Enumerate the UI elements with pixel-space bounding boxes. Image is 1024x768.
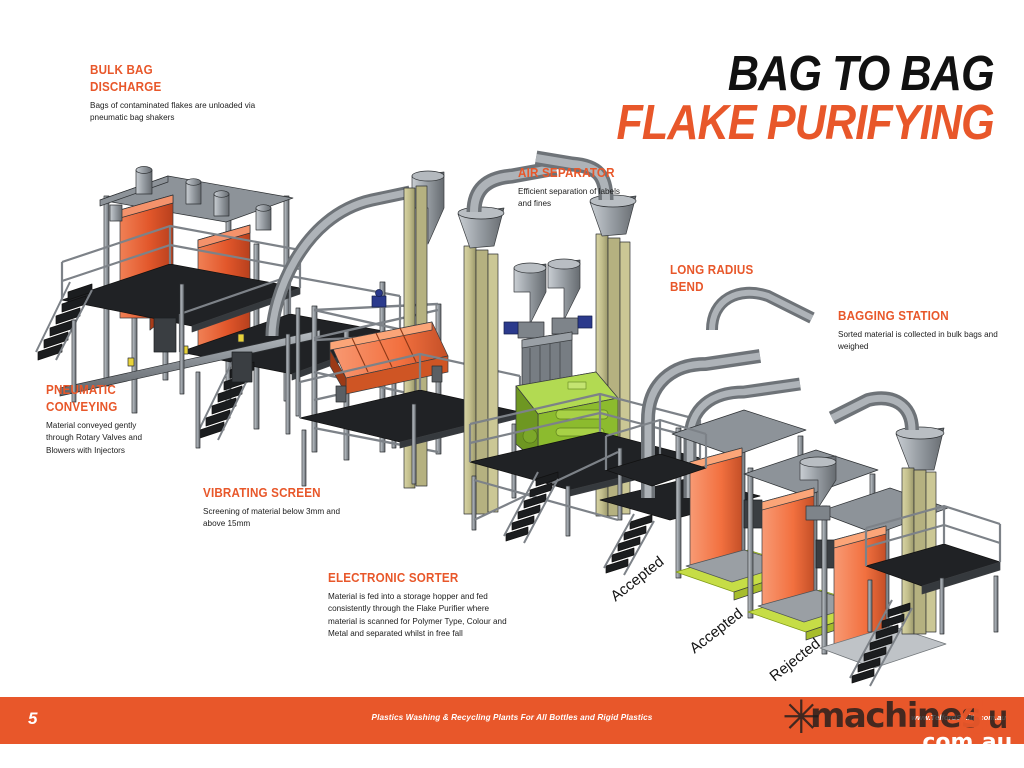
callout-electronic-sorter: ELECTRONIC SORTER Material is fed into a… <box>328 570 518 640</box>
callout-body: Material is fed into a storage hopper an… <box>328 590 509 640</box>
callout-air-separator: AIR SEPARATOR Efficient separation of la… <box>518 165 688 210</box>
title-line-1: BAG TO BAG <box>617 52 994 97</box>
air-separator-cyclones <box>514 259 580 324</box>
callout-bulk-bag-discharge: BULK BAG DISCHARGE Bags of contaminated … <box>90 62 290 124</box>
title-line-2: FLAKE PURIFYING <box>617 101 994 146</box>
callout-heading: BULK BAG DISCHARGE <box>90 62 276 96</box>
callout-heading: PNEUMATIC CONVEYING <box>46 382 186 416</box>
callout-long-radius-bend: LONG RADIUS BEND <box>670 262 800 299</box>
footer-tagline: Plastics Washing & Recycling Plants For … <box>0 713 1024 722</box>
callout-body: Bags of contaminated flakes are unloaded… <box>90 99 280 124</box>
callout-vibrating-screen: VIBRATING SCREEN Screening of material b… <box>203 485 383 530</box>
callout-heading: ELECTRONIC SORTER <box>328 570 505 587</box>
page-footer: 5 Plastics Washing & Recycling Plants Fo… <box>0 697 1024 744</box>
callout-pneumatic-conveying: PNEUMATIC CONVEYING Material conveyed ge… <box>46 382 196 456</box>
footer-url[interactable]: www.TelfordSmith.com.au <box>911 713 1006 722</box>
callout-heading: BAGGING STATION <box>838 308 1005 325</box>
page-title: BAG TO BAG FLAKE PURIFYING <box>565 52 994 146</box>
callout-body: Material conveyed gently through Rotary … <box>46 419 189 456</box>
callout-body: Sorted material is collected in bulk bag… <box>838 328 1009 353</box>
callout-heading: AIR SEPARATOR <box>518 165 676 182</box>
callout-heading: LONG RADIUS BEND <box>670 262 791 296</box>
callout-heading: VIBRATING SCREEN <box>203 485 370 502</box>
callout-bagging-station: BAGGING STATION Sorted material is colle… <box>838 308 1018 353</box>
callout-body: Screening of material below 3mm and abov… <box>203 505 374 530</box>
brochure-page: BAG TO BAG FLAKE PURIFYING BULK BAG DISC… <box>0 0 1024 768</box>
callout-body: Efficient separation of labels and fines <box>518 185 680 210</box>
